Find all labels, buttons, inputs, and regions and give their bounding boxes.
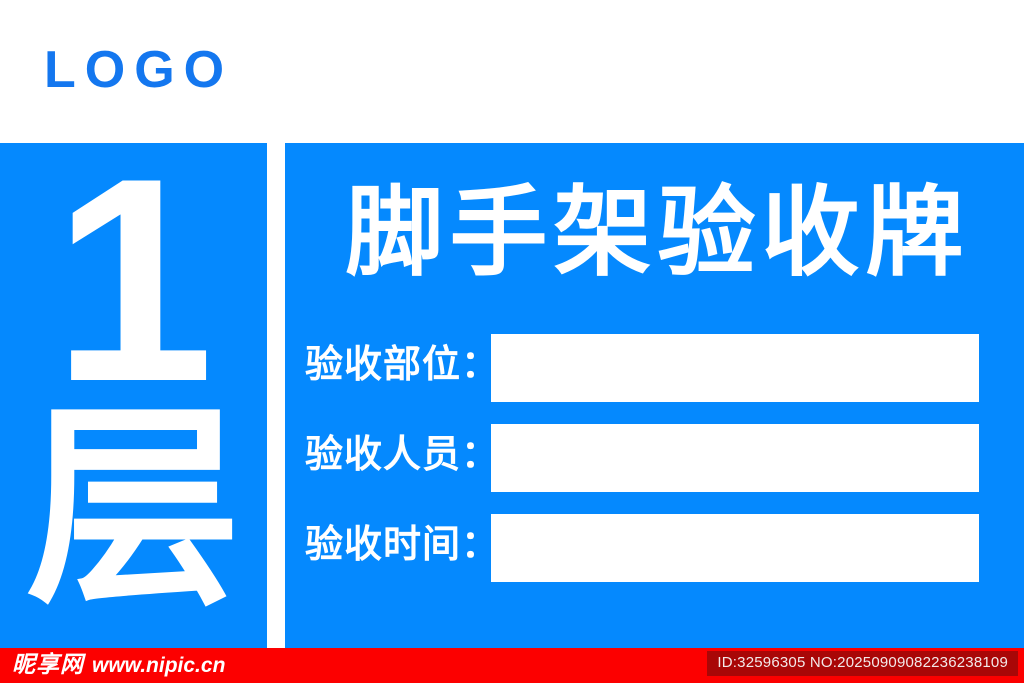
form-row: 验收人员： <box>285 419 1024 509</box>
form-row: 验收时间： <box>285 509 1024 599</box>
acceptance-location-label: 验收部位： <box>305 339 490 389</box>
floor-number: 1 <box>0 155 267 405</box>
acceptance-form: 验收部位： 验收人员： 验收时间： <box>285 329 1024 599</box>
watermark-site-url: www.nipic.cn <box>92 652 225 680</box>
acceptance-personnel-field[interactable] <box>491 424 979 492</box>
acceptance-location-field[interactable] <box>491 334 979 402</box>
floor-panel: 1 层 <box>0 143 267 648</box>
watermark-brand: 昵享网 www.nipic.cn <box>12 651 225 680</box>
sign-poster: LOGO 1 层 脚手架验收牌 验收部位： 验收人员： 验收时间： 昵享网 ww… <box>0 0 1024 683</box>
floor-unit-label: 层 <box>0 401 267 616</box>
acceptance-personnel-label: 验收人员： <box>305 429 490 479</box>
asset-id-badge: ID:32596305 NO:20250909082236238109 <box>707 651 1018 676</box>
acceptance-time-field[interactable] <box>491 514 979 582</box>
form-row: 验收部位： <box>285 329 1024 419</box>
logo-area: LOGO <box>0 0 1024 143</box>
content-panel: 脚手架验收牌 验收部位： 验收人员： 验收时间： <box>285 143 1024 648</box>
watermark-footer: 昵享网 www.nipic.cn ID:32596305 NO:20250909… <box>0 648 1024 683</box>
acceptance-time-label: 验收时间： <box>305 519 490 569</box>
sign-title: 脚手架验收牌 <box>285 173 1024 293</box>
logo-text: LOGO <box>44 42 233 98</box>
watermark-site-name: 昵享网 <box>12 651 84 679</box>
